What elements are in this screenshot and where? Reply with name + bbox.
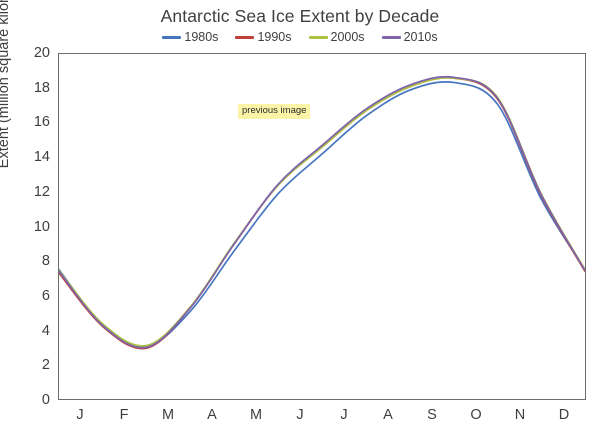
x-tick-label: O: [464, 408, 488, 423]
x-tick-label: J: [68, 408, 92, 423]
x-tick-label: A: [200, 408, 224, 423]
x-tick-label: N: [508, 408, 532, 423]
x-tick-label: M: [244, 408, 268, 423]
x-tick-label: M: [156, 408, 180, 423]
x-tick-label: S: [420, 408, 444, 423]
x-tick-label: A: [376, 408, 400, 423]
plot-area: [58, 53, 586, 400]
x-tick-label: F: [112, 408, 136, 423]
series-lines: [59, 54, 585, 399]
chart-container: Antarctic Sea Ice Extent by Decade 1980s…: [0, 0, 600, 438]
x-tick-label: J: [332, 408, 356, 423]
annotation-previous-image: previous image: [238, 104, 310, 119]
x-tick-label: J: [288, 408, 312, 423]
x-tick-label: D: [552, 408, 576, 423]
series-line-1980s: [59, 82, 585, 347]
